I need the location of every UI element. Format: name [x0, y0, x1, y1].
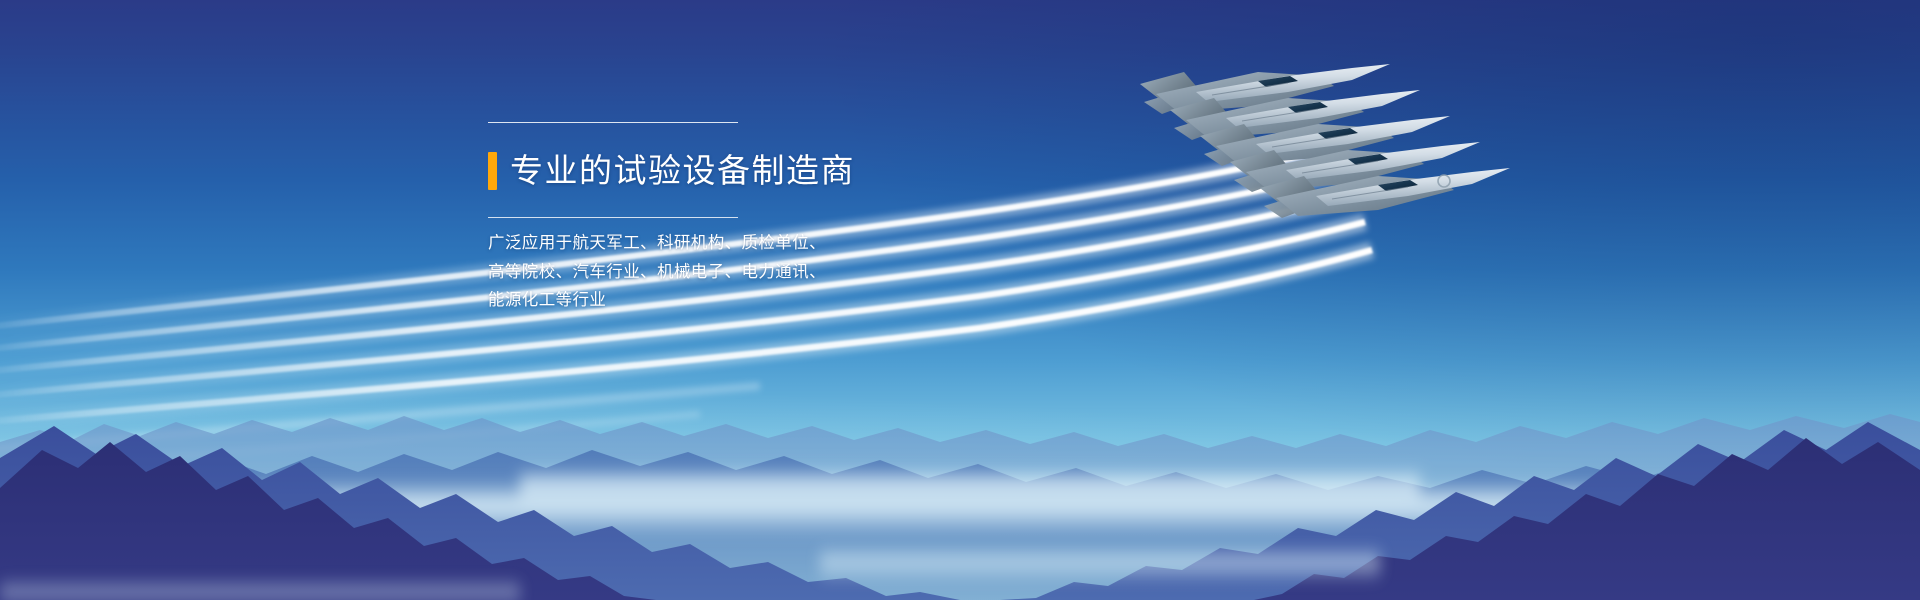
hero-banner: 专业的试验设备制造商 广泛应用于航天军工、科研机构、质检单位、 高等院校、汽车行… [0, 0, 1920, 600]
banner-subcopy: 广泛应用于航天军工、科研机构、质检单位、 高等院校、汽车行业、机械电子、电力通讯… [488, 229, 738, 314]
subcopy-line-3: 能源化工等行业 [488, 286, 738, 314]
orange-accent-bar [488, 152, 497, 190]
jet-formation [1120, 44, 1540, 274]
banner-copy-block: 专业的试验设备制造商 广泛应用于航天军工、科研机构、质检单位、 高等院校、汽车行… [488, 122, 738, 314]
subcopy-line-2: 高等院校、汽车行业、机械电子、电力通讯、 [488, 258, 738, 286]
headline-rule-bottom [488, 217, 738, 218]
mountain-range [0, 330, 1920, 600]
subcopy-line-1: 广泛应用于航天军工、科研机构、质检单位、 [488, 229, 738, 257]
page-title: 专业的试验设备制造商 [510, 154, 855, 187]
headline-row: 专业的试验设备制造商 [488, 123, 738, 217]
